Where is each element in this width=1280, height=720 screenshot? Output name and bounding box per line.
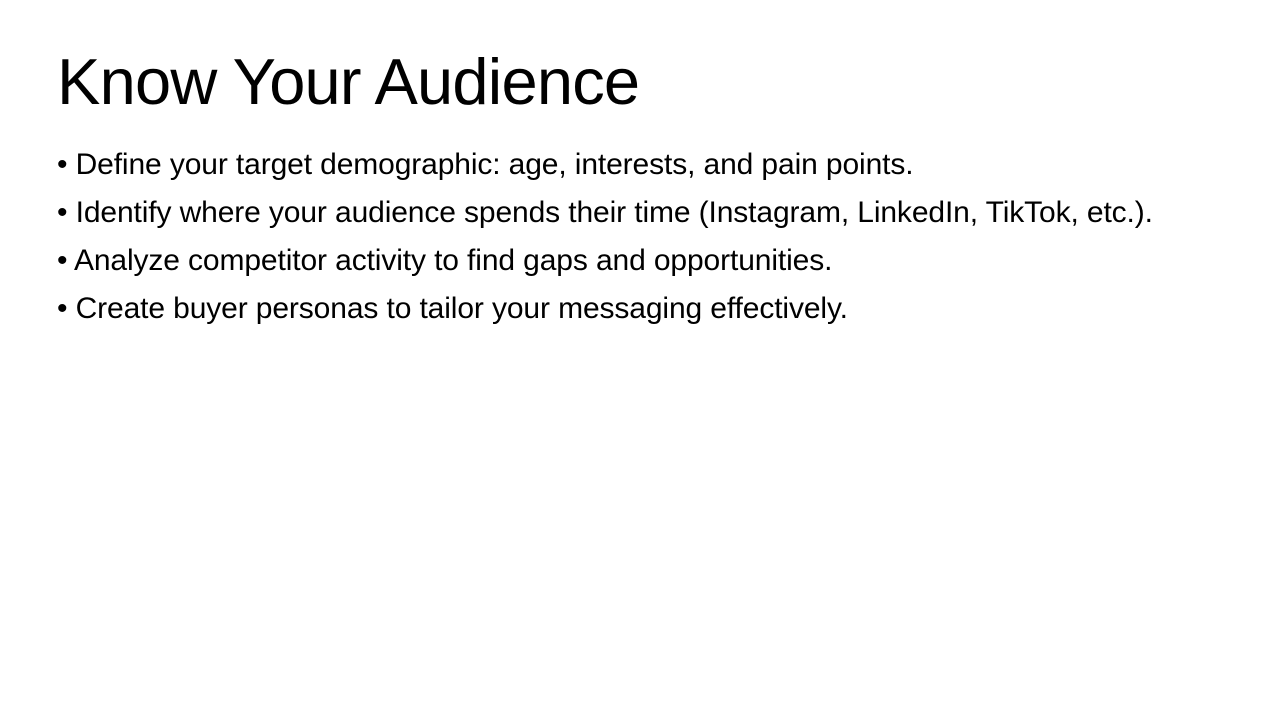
bullet-icon: •: [57, 292, 76, 325]
list-item: • Define your target demographic: age, i…: [57, 146, 1223, 184]
bullet-icon: •: [57, 148, 76, 181]
presentation-slide: Know Your Audience • Define your target …: [0, 0, 1280, 720]
list-item: • Analyze competitor activity to find ga…: [57, 242, 1223, 280]
bullet-list: • Define your target demographic: age, i…: [57, 146, 1223, 328]
list-item: • Identify where your audience spends th…: [57, 194, 1223, 232]
page-title: Know Your Audience: [57, 48, 1223, 117]
bullet-icon: •: [57, 196, 76, 229]
list-item-text: Identify where your audience spends thei…: [76, 196, 1153, 229]
list-item-text: Analyze competitor activity to find gaps…: [74, 244, 832, 277]
list-item-text: Create buyer personas to tailor your mes…: [76, 292, 848, 325]
list-item-text: Define your target demographic: age, int…: [76, 148, 914, 181]
list-item: • Create buyer personas to tailor your m…: [57, 290, 1223, 328]
bullet-icon: •: [57, 244, 74, 277]
